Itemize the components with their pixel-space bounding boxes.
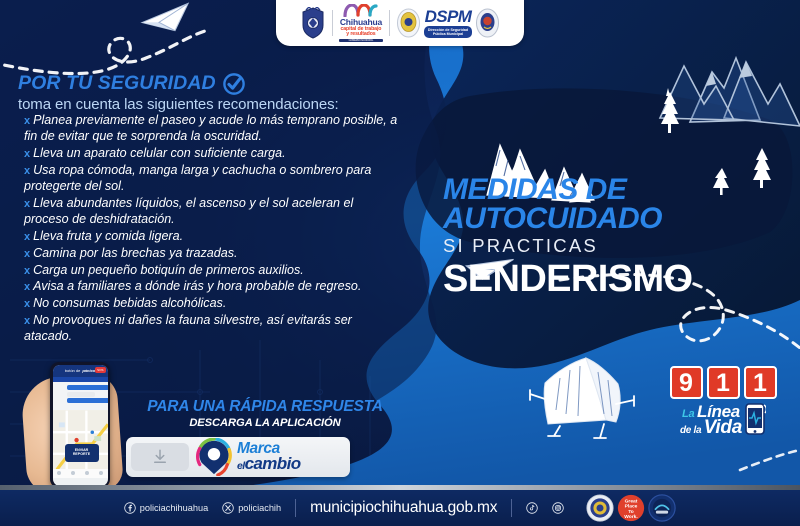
recommendations-list: xPlanea previamente el paseo y acude lo …	[24, 112, 400, 345]
title-line-4: SENDERISMO	[443, 260, 692, 298]
dspm-right-badge-icon	[475, 8, 500, 38]
tagline-vida: Vida	[704, 417, 742, 438]
tiktok-icon[interactable]	[526, 502, 538, 514]
x-handle: policiachih	[238, 503, 281, 513]
recommendation-item: xPlanea previamente el paseo y acude lo …	[24, 112, 400, 145]
title-line-1: MEDIDAS DE	[443, 176, 692, 205]
bullet-x-icon: x	[24, 248, 33, 260]
message-bubble	[67, 398, 108, 403]
footer-badges: Great Place To Work.	[586, 494, 676, 522]
recommendation-item: xLleva fruta y comida ligera.	[24, 228, 400, 244]
recommendation-text: Planea previamente el paseo y acude lo m…	[24, 113, 397, 143]
logo-divider	[332, 10, 333, 36]
recommendation-item: xCarga un pequeño botiquín de primeros a…	[24, 262, 400, 278]
emergency-digit: 9	[670, 366, 703, 399]
recommendation-text: Usa ropa cómoda, manga larga y cachucha …	[24, 163, 371, 193]
bullet-x-icon: x	[24, 298, 33, 310]
download-button[interactable]	[131, 443, 189, 471]
sos-pill: SOS	[95, 367, 105, 373]
header-logo-bar: Chihuahua capital de trabajo y resultado…	[276, 0, 524, 46]
recommendation-item: xLleva un aparato celular con suficiente…	[24, 145, 400, 161]
bullet-x-icon: x	[24, 148, 33, 160]
footer-divider	[511, 499, 512, 517]
recommendation-text: Avisa a familiares a dónde irás y hora p…	[33, 279, 361, 293]
app-messages	[53, 382, 108, 410]
recommendation-text: Lleva un aparato celular con suficiente …	[33, 146, 286, 160]
nav-dot	[85, 471, 89, 475]
download-bar[interactable]: Marca elcambio	[126, 437, 350, 477]
message-bubble	[67, 385, 108, 390]
recommendation-item: xLleva abundantes líquidos, el ascenso y…	[24, 195, 400, 228]
title-line-2: AUTOCUIDADO	[443, 205, 692, 234]
recommendation-text: No provoques ni dañes la fauna silvestre…	[24, 313, 352, 343]
safety-heading-block: POR TU SEGURIDAD toma en cuenta las sigu…	[18, 72, 339, 113]
recommendation-item: xUsa ropa cómoda, manga larga y cachucha…	[24, 162, 400, 195]
title-line-3: SI PRACTICAS	[443, 234, 692, 259]
recommendation-item: xNo provoques ni dañes la fauna silvestr…	[24, 312, 400, 345]
app-bottom-nav[interactable]	[53, 469, 108, 478]
brand-line-2-small: el	[237, 460, 245, 472]
award-badge	[648, 494, 676, 522]
recommendation-text: Lleva abundantes líquidos, el ascenso y …	[24, 196, 353, 226]
chihuahua-crest-icon	[300, 7, 326, 39]
brand-line-2: elcambio	[237, 456, 300, 472]
emergency-tagline: La Línea de la Vida	[664, 402, 782, 436]
emergency-digits: 911	[664, 366, 782, 399]
cta-line-2: REPORTE	[73, 452, 90, 456]
municipal-seal-badge	[586, 494, 614, 522]
emergency-digit: 1	[707, 366, 740, 399]
bullet-x-icon: x	[24, 281, 33, 293]
check-circle-icon	[223, 73, 245, 95]
footer-bar: policiachihuahua policiachih municipioch…	[0, 490, 800, 526]
smartphone-frame: botón de pánico SOS	[50, 362, 110, 488]
x-twitter-icon	[222, 502, 234, 514]
promo-headline: PARA UNA RÁPIDA RESPUESTA	[140, 398, 390, 416]
recommendation-text: Carga un pequeño botiquín de primeros au…	[33, 263, 304, 277]
facebook-link[interactable]: policiachihuahua	[124, 502, 208, 514]
phone-mockup: botón de pánico SOS	[44, 362, 130, 490]
facebook-icon	[124, 502, 136, 514]
chihuahua-tagline-2: y resultados	[346, 32, 375, 37]
recommendation-text: Camina por las brechas ya trazadas.	[33, 246, 237, 260]
footer-divider	[295, 499, 296, 517]
poster-canvas: Chihuahua capital de trabajo y resultado…	[0, 0, 800, 526]
bullet-x-icon: x	[24, 315, 33, 327]
badge-line-1: Great	[625, 498, 638, 504]
message-bubble	[67, 392, 95, 397]
recommendation-item: xAvisa a familiares a dónde irás y hora …	[24, 278, 400, 294]
safety-heading: POR TU SEGURIDAD	[18, 72, 216, 95]
nav-dot	[71, 471, 75, 475]
recommendation-item: xNo consumas bebidas alcohólicas.	[24, 295, 400, 311]
brand-line-2-main: cambio	[245, 454, 301, 473]
badge-line-2: Place	[625, 504, 638, 510]
dspm-line-2: Pública Municipal	[433, 32, 463, 36]
tagline-dela: de la	[680, 425, 701, 436]
bullet-x-icon: x	[24, 198, 33, 210]
emergency-digit: 1	[744, 366, 777, 399]
main-title-block: MEDIDAS DE AUTOCUIDADO SI PRACTICAS SEND…	[443, 176, 692, 298]
app-title-1: botón de	[65, 368, 81, 373]
marca-el-cambio-logo: Marca elcambio	[195, 438, 300, 476]
dspm-ribbon: Dirección de Seguridad Pública Municipal	[424, 26, 472, 38]
send-report-button[interactable]: ENVIAR REPORTE	[65, 444, 99, 462]
app-header: botón de pánico SOS	[53, 365, 108, 377]
website-url[interactable]: municipiochihuahua.gob.mx	[310, 499, 497, 517]
safety-subheading: toma en cuenta las siguientes recomendac…	[18, 96, 339, 113]
dspm-logo: DSPM Dirección de Seguridad Pública Muni…	[396, 8, 500, 38]
bullet-x-icon: x	[24, 115, 33, 127]
bullet-x-icon: x	[24, 265, 33, 277]
x-link[interactable]: policiachih	[222, 502, 281, 514]
tagline-line-2: de la Vida	[680, 420, 742, 436]
cta-line-1: ENVIAR	[75, 448, 89, 452]
promo-subline: DESCARGA LA APLICACIÓN	[140, 417, 390, 429]
chihuahua-m-icon	[343, 4, 379, 17]
recommendation-text: Lleva fruta y comida ligera.	[33, 229, 183, 243]
chihuahua-rule: GOBIERNO MUNICIPAL	[339, 39, 383, 42]
dspm-acronym: DSPM	[425, 8, 472, 25]
great-place-to-work-badge: Great Place To Work.	[617, 494, 645, 522]
bullet-x-icon: x	[24, 165, 33, 177]
recommendation-item: xCamina por las brechas ya trazadas.	[24, 245, 400, 261]
instagram-icon[interactable]	[552, 502, 564, 514]
bullet-x-icon: x	[24, 231, 33, 243]
recommendation-text: No consumas bebidas alcohólicas.	[33, 296, 226, 310]
tagline-la: La	[682, 408, 694, 420]
badge-line-4: Work.	[625, 514, 639, 520]
mobile-pulse-icon	[744, 402, 766, 436]
badge-line-3: To	[628, 509, 634, 515]
download-icon	[151, 448, 169, 466]
app-map: ENVIAR REPORTE	[53, 410, 108, 478]
dspm-line-1: Dirección de Seguridad	[428, 28, 468, 32]
dspm-left-badge-icon	[396, 8, 421, 38]
phone-screen: botón de pánico SOS	[53, 365, 108, 486]
app-title-2: pánico	[82, 368, 95, 373]
app-promo-text: PARA UNA RÁPIDA RESPUESTA DESCARGA LA AP…	[140, 398, 390, 429]
nav-dot	[57, 471, 61, 475]
map-pin-icon	[195, 438, 233, 476]
chihuahua-logo: Chihuahua capital de trabajo y resultado…	[339, 4, 383, 41]
nav-dot	[99, 471, 103, 475]
emergency-911-block: 911 La Línea de la Vida	[664, 366, 782, 436]
logo-divider	[389, 10, 390, 36]
facebook-handle: policiachihuahua	[140, 503, 208, 513]
